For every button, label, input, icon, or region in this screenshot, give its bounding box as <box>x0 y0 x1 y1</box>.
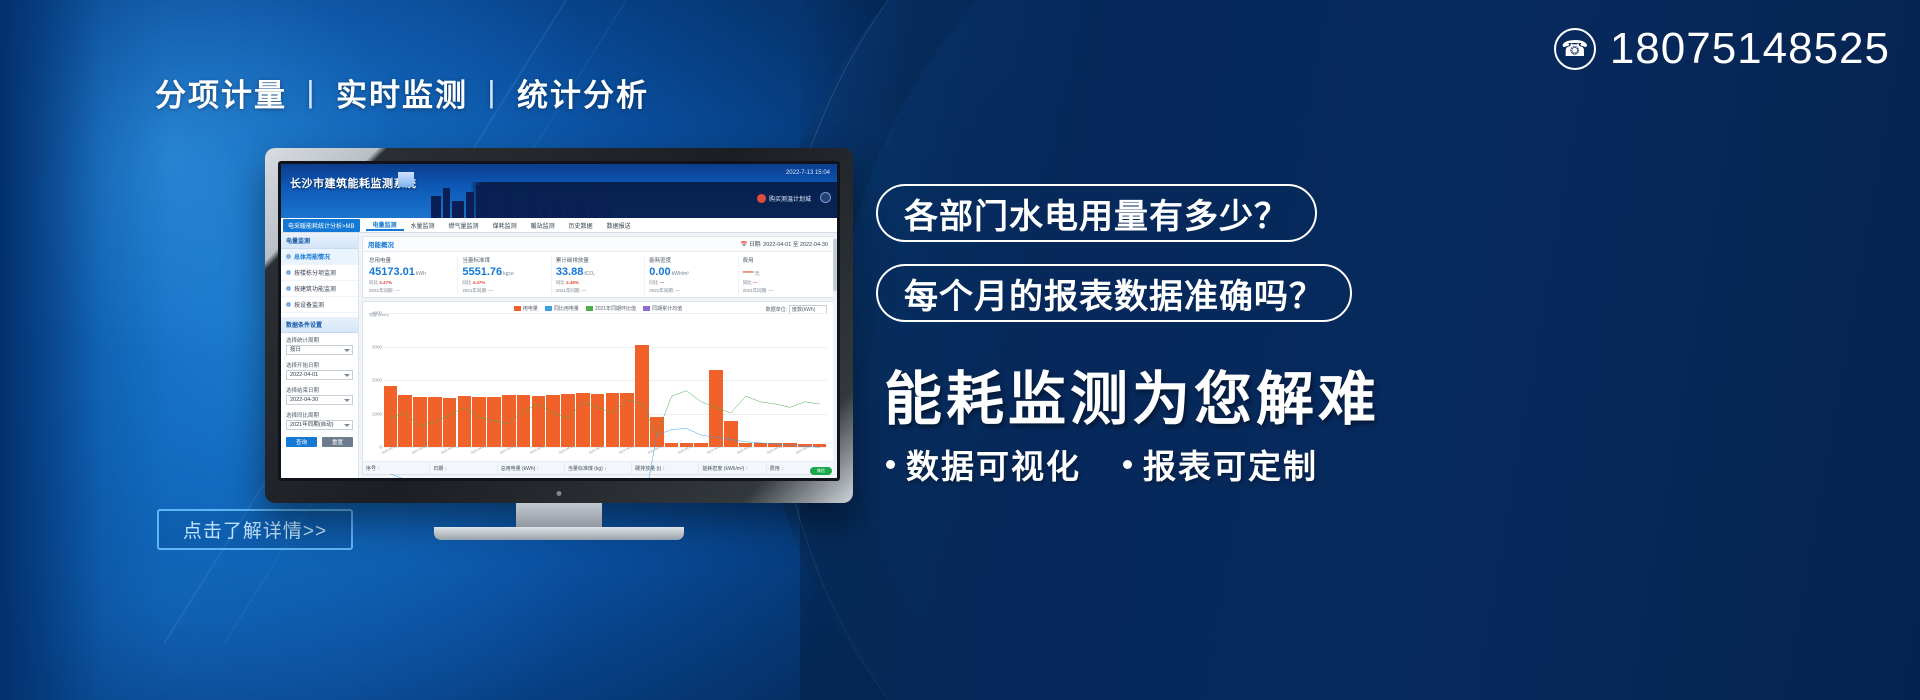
legend-entry-1[interactable]: 同比用电量 <box>545 305 579 312</box>
kpi-value-1: 5551.76kgce <box>462 266 546 278</box>
kpi-value-4: —元 <box>743 266 827 278</box>
scrollbar-thumb[interactable] <box>833 239 837 291</box>
kpi-card-0: 总用电量 45173.01kWh 同比 4.47% 2021年同期: — <box>365 256 458 294</box>
dashboard-user[interactable]: 购买测温计划城 <box>757 194 811 203</box>
sidebar-buttons: 查询 重置 <box>281 433 358 451</box>
scrollbar[interactable] <box>833 233 837 478</box>
kpi-row: 总用电量 45173.01kWh 同比 4.47% 2021年同期: — 当量标… <box>363 252 833 297</box>
sidebar-item-1[interactable]: 按楼栋分项监测 <box>281 265 358 281</box>
main-headline: 能耗监测为您解难 <box>884 352 1380 436</box>
tagline-separator-1: 丨 <box>287 78 336 113</box>
kpi-base-value-4: — <box>769 288 774 293</box>
kpi-card-4: 费用 —元 同比 — 2021年同期: — <box>739 256 831 294</box>
kpi-unit-2: tCO₂ <box>584 271 595 277</box>
overview-panel-title: 用能概况 <box>368 239 394 249</box>
legend-swatch-0 <box>514 306 521 311</box>
phone-number: 18075148525 <box>1610 24 1890 74</box>
feature-bullet-1: 报表可定制 <box>1123 440 1318 488</box>
monitor-mockup: 长沙市建筑能耗监测系统 2022-7-13 15:04 购买测温计划城 电采暖能… <box>265 148 853 503</box>
dashboard-user-label: 购买测温计划城 <box>769 194 811 203</box>
kpi-label-2: 累计碳排放量 <box>556 256 640 264</box>
field-input-1[interactable]: 2022-04-01 <box>286 370 353 380</box>
kpi-base-label-1: 2021年同期: <box>462 288 487 293</box>
question-pill-1: 各部门水电用量有多少？ <box>876 184 1317 242</box>
query-button[interactable]: 查询 <box>286 437 317 447</box>
dashboard-sidebar: 电量监测 总体用能情况 按楼栋分项监测 按建筑功能监测 按设备监测 数据条件设置… <box>281 233 359 478</box>
kpi-base-value-2: — <box>582 288 587 293</box>
field-input-3[interactable]: 2021年同期(自动) <box>286 420 353 430</box>
dashboard-logo <box>398 172 414 187</box>
field-input-0[interactable]: 按日 <box>286 345 353 355</box>
chart-y-tick: 2000 <box>372 378 382 383</box>
kpi-number-3: 0.00 <box>649 266 670 278</box>
chart-y-axis: 01000200030004000 <box>367 313 383 447</box>
bullet-dot-icon-0 <box>886 460 895 469</box>
kpi-base-value-1: — <box>488 288 493 293</box>
kpi-number-0: 45173.01 <box>369 266 415 278</box>
legend-label-3: 同期累计均值 <box>652 306 682 312</box>
nav-item-2[interactable]: 燃气量监测 <box>442 221 486 230</box>
chart-line-series <box>383 313 827 478</box>
field-label-0: 选择统计周期 <box>281 333 358 345</box>
kpi-base-label-4: 2021年同期: <box>743 288 768 293</box>
kpi-compare-label-3: 同比 <box>649 280 658 285</box>
kpi-value-2: 33.88tCO₂ <box>556 266 640 278</box>
legend-label-1: 同比用电量 <box>554 306 579 312</box>
kpi-value-3: 0.00kWh/m² <box>649 266 733 278</box>
chart-plot-area: 电量 (kWh) 01000200030004000 2022-04-01202… <box>367 313 829 459</box>
learn-more-label: 点击了解详情>> <box>183 516 327 543</box>
tagline: 分项计量丨实时监测丨统计分析 <box>155 70 649 115</box>
kpi-unit-4: 元 <box>755 271 760 277</box>
kpi-base-value-0: — <box>395 288 400 293</box>
question-pill-1-label: 各部门水电用量有多少？ <box>904 189 1289 238</box>
chart-y-tick: 0 <box>379 445 382 450</box>
monitor-stand-neck <box>516 503 602 529</box>
kpi-base-value-3: — <box>675 288 680 293</box>
tagline-part-2: 实时监测 <box>336 78 468 113</box>
kpi-card-3: 能耗密度 0.00kWh/m² 同比 — 2021年同期: — <box>645 256 738 294</box>
field-label-3: 选择同比周期 <box>281 408 358 420</box>
dashboard-body: 电量监测 总体用能情况 按楼栋分项监测 按建筑功能监测 按设备监测 数据条件设置… <box>281 233 837 478</box>
chart-y-tick: 1000 <box>372 411 382 416</box>
kpi-base-label-3: 2021年同期: <box>649 288 674 293</box>
unit-selector-label: 数据单位: <box>766 306 787 313</box>
kpi-number-1: 5551.76 <box>462 266 502 278</box>
kpi-base-label-2: 2021年同期: <box>556 288 581 293</box>
kpi-label-0: 总用电量 <box>369 256 453 264</box>
tagline-separator-2: 丨 <box>468 78 517 113</box>
kpi-value-0: 45173.01kWh <box>369 266 453 278</box>
dashboard-nav: 电采暖能耗统计分析>MB 电量监测 水量监测 燃气量监测 煤耗监测 暖站监测 历… <box>281 218 837 233</box>
kpi-label-4: 费用 <box>743 256 827 264</box>
date-range-value: 2022-04-01 至 2022-04-30 <box>763 242 828 248</box>
user-avatar-icon <box>757 194 766 203</box>
kpi-unit-0: kWh <box>416 271 426 277</box>
kpi-base-1: 2021年同期: — <box>462 288 546 294</box>
kpi-unit-1: kgce <box>503 271 514 277</box>
phone-block[interactable]: ☎ 18075148525 <box>1554 24 1890 74</box>
kpi-compare-label-1: 同比 <box>462 280 471 285</box>
legend-label-2: 2021年同期环比值 <box>595 306 636 312</box>
kpi-compare-value-1: 4.47% <box>473 280 486 285</box>
dashboard-datetime: 2022-7-13 15:04 <box>786 170 830 176</box>
kpi-unit-3: kWh/m² <box>672 271 689 277</box>
kpi-compare-3: 同比 — <box>649 280 733 286</box>
kpi-compare-value-0: 4.47% <box>379 280 392 285</box>
monitor-screen: 长沙市建筑能耗监测系统 2022-7-13 15:04 购买测温计划城 电采暖能… <box>281 164 837 478</box>
chart-line <box>390 391 819 435</box>
banner-root: 分项计量丨实时监测丨统计分析 ☎ 18075148525 点击了解详情>> <box>0 0 1920 700</box>
nav-item-3[interactable]: 煤耗监测 <box>486 221 524 230</box>
field-input-2[interactable]: 2022-04-30 <box>286 395 353 405</box>
filter-header: 数据条件设置 <box>281 317 358 333</box>
nav-item-5[interactable]: 历史数据 <box>562 221 600 230</box>
overview-date-range: 📅 日期: 2022-04-01 至 2022-04-30 <box>741 240 828 248</box>
legend-swatch-3 <box>643 306 650 311</box>
nav-item-1[interactable]: 水量监测 <box>404 221 442 230</box>
sidebar-item-3[interactable]: 按设备监测 <box>281 297 358 313</box>
kpi-base-0: 2021年同期: — <box>369 288 453 294</box>
legend-entry-0[interactable]: 用电量 <box>514 305 538 312</box>
sidebar-item-0[interactable]: 总体用能情况 <box>281 249 358 265</box>
right-dark-overlay <box>800 0 1920 700</box>
kpi-compare-value-2: 4.46% <box>566 280 579 285</box>
kpi-compare-4: 同比 — <box>743 280 827 286</box>
legend-label-0: 用电量 <box>523 306 538 312</box>
date-label: 日期: <box>749 242 762 248</box>
legend-swatch-2 <box>586 306 593 311</box>
sidebar-header: 电量监测 <box>281 233 358 249</box>
gear-icon[interactable] <box>820 192 831 203</box>
left-edge-shade <box>0 0 170 700</box>
kpi-label-1: 当量标准煤 <box>462 256 546 264</box>
field-label-1: 选择开始日期 <box>281 358 358 370</box>
breadcrumb: 电采暖能耗统计分析>MB <box>283 219 360 232</box>
legend-swatch-1 <box>545 306 552 311</box>
feature-bullets: 数据可视化 报表可定制 <box>886 440 1318 488</box>
kpi-base-3: 2021年同期: — <box>649 288 733 294</box>
kpi-number-4: — <box>743 266 754 278</box>
tagline-part-3: 统计分析 <box>517 78 649 113</box>
chart-panel: 用电量 同比用电量 2021年同期环比值 同期累计均值 数据单位: 度数(kWh… <box>362 301 834 475</box>
kpi-base-label-0: 2021年同期: <box>369 288 394 293</box>
dashboard-main: 用能概况 📅 日期: 2022-04-01 至 2022-04-30 总用电量 <box>359 233 837 478</box>
kpi-compare-1: 同比 4.47% <box>462 280 546 286</box>
question-pill-2: 每个月的报表数据准确吗？ <box>876 264 1352 322</box>
kpi-compare-label-0: 同比 <box>369 280 378 285</box>
kpi-compare-2: 同比 4.46% <box>556 280 640 286</box>
field-label-2: 选择结束日期 <box>281 383 358 395</box>
bullet-dot-icon-1 <box>1123 460 1132 469</box>
feature-bullet-label-1: 报表可定制 <box>1143 440 1318 488</box>
chart-y-tick: 3000 <box>372 344 382 349</box>
monitor-inner-bezel: 长沙市建筑能耗监测系统 2022-7-13 15:04 购买测温计划城 电采暖能… <box>278 161 840 481</box>
kpi-compare-value-4: — <box>753 280 758 285</box>
chart-legend: 用电量 同比用电量 2021年同期环比值 同期累计均值 <box>363 302 833 313</box>
tagline-part-1: 分项计量 <box>155 78 287 113</box>
feature-bullet-0: 数据可视化 <box>886 440 1081 488</box>
kpi-base-4: 2021年同期: — <box>743 288 827 294</box>
kpi-compare-label-4: 同比 <box>743 280 752 285</box>
learn-more-button[interactable]: 点击了解详情>> <box>157 509 353 550</box>
nav-item-6[interactable]: 数据报送 <box>600 221 638 230</box>
phone-icon: ☎ <box>1554 28 1596 70</box>
kpi-compare-label-2: 同比 <box>556 280 565 285</box>
kpi-base-2: 2021年同期: — <box>556 288 640 294</box>
chart-y-tick: 4000 <box>372 311 382 316</box>
reset-button[interactable]: 重置 <box>322 437 353 447</box>
nav-item-4[interactable]: 暖站监测 <box>524 221 562 230</box>
sidebar-item-2[interactable]: 按建筑功能监测 <box>281 281 358 297</box>
monitor-stand-base <box>434 527 684 540</box>
overview-panel: 用能概况 📅 日期: 2022-04-01 至 2022-04-30 总用电量 <box>362 236 834 298</box>
kpi-label-3: 能耗密度 <box>649 256 733 264</box>
legend-entry-3[interactable]: 同期累计均值 <box>643 305 682 312</box>
kpi-compare-value-3: — <box>659 280 664 285</box>
overview-panel-header: 用能概况 📅 日期: 2022-04-01 至 2022-04-30 <box>363 237 833 252</box>
chart-line <box>390 428 819 478</box>
kpi-card-2: 累计碳排放量 33.88tCO₂ 同比 4.46% 2021年同期: — <box>552 256 645 294</box>
nav-item-0[interactable]: 电量监测 <box>366 220 404 231</box>
calendar-icon: 📅 <box>741 242 748 248</box>
kpi-number-2: 33.88 <box>556 266 584 278</box>
power-indicator <box>557 491 562 496</box>
feature-bullet-label-0: 数据可视化 <box>906 440 1081 488</box>
dashboard-header: 长沙市建筑能耗监测系统 2022-7-13 15:04 购买测温计划城 <box>281 164 837 218</box>
kpi-compare-0: 同比 4.47% <box>369 280 453 286</box>
kpi-card-1: 当量标准煤 5551.76kgce 同比 4.47% 2021年同期: — <box>458 256 551 294</box>
legend-entry-2[interactable]: 2021年同期环比值 <box>586 305 636 312</box>
question-pill-2-label: 每个月的报表数据准确吗？ <box>904 269 1324 318</box>
